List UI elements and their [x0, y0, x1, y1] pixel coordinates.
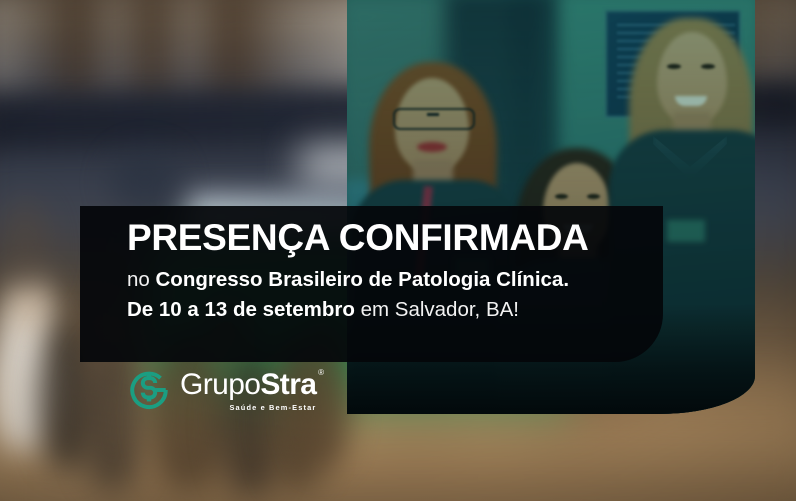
logo-tagline: Saúde e Bem-Estar [180, 403, 316, 412]
subtitle-line-1-regular: no [127, 268, 156, 291]
page-title: PRESENÇA CONFIRMADA [127, 219, 589, 256]
logo-text-lockup: GrupoStra® Saúde e Bem-Estar [180, 369, 316, 412]
logo-word-bold: Stra [260, 368, 316, 401]
logo-wordmark: GrupoStra® [180, 370, 316, 400]
headline-panel: PRESENÇA CONFIRMADA no Congresso Brasile… [80, 206, 663, 362]
promotional-banner: PRESENÇA CONFIRMADA no Congresso Brasile… [0, 0, 796, 501]
subtitle-line-2-regular: em Salvador, BA! [355, 298, 519, 321]
subtitle-line-1: no Congresso Brasileiro de Patologia Clí… [127, 270, 569, 291]
logo-word-light: Grupo [180, 368, 260, 401]
subtitle-line-2-bold: De 10 a 13 de setembro [127, 298, 355, 321]
registered-trademark-icon: ® [318, 369, 323, 377]
subtitle-line-2: De 10 a 13 de setembro em Salvador, BA! [127, 300, 519, 321]
grupostra-gs-monogram-icon [127, 368, 171, 412]
subtitle-line-1-bold: Congresso Brasileiro de Patologia Clínic… [156, 268, 570, 291]
grupostra-logo: GrupoStra® Saúde e Bem-Estar [127, 368, 316, 412]
